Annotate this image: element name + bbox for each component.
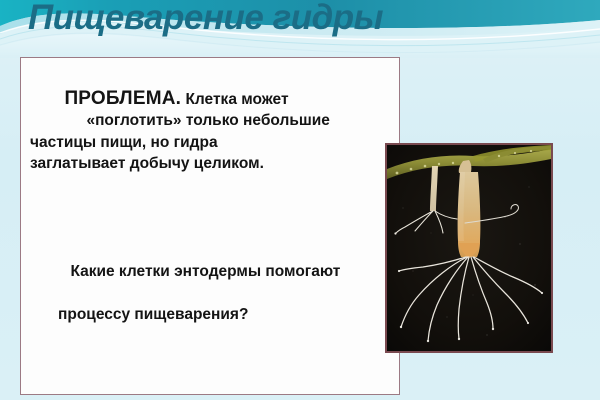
problem-first-line: Клетка может: [181, 91, 288, 108]
hydra-photo-graphic: [387, 145, 551, 351]
slide: Пищеварение гидры ПРОБЛЕМА. Клетка может…: [0, 0, 600, 400]
problem-label: ПРОБЛЕМА.: [64, 88, 181, 109]
hydra-body: [458, 160, 481, 258]
problem-body: «поглотить» только небольшие частицы пищ…: [30, 112, 330, 172]
hydra-photograph: [385, 143, 553, 353]
content-panel: ПРОБЛЕМА. Клетка может «поглотить» тольк…: [20, 57, 400, 395]
paragraph-problem: ПРОБЛЕМА. Клетка может «поглотить» тольк…: [30, 66, 393, 196]
content-panel-inner: ПРОБЛЕМА. Клетка может «поглотить» тольк…: [30, 64, 393, 400]
question-line-2: процессу пищеварения?: [36, 304, 393, 326]
page-title: Пищеварение гидры: [28, 0, 588, 40]
paragraph-question: Какие клетки энтодермы помогают процессу…: [30, 239, 393, 368]
question-line-1: Какие клетки энтодермы помогают: [70, 263, 340, 280]
